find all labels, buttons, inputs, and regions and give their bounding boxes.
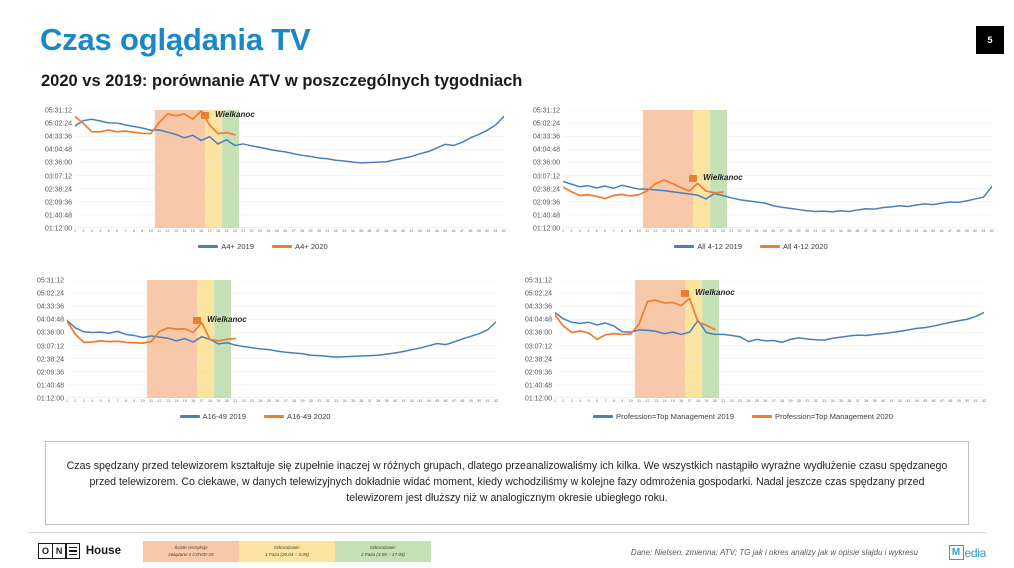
wielkanoc-marker-icon	[193, 317, 201, 324]
x-tick-label: 39	[881, 229, 885, 233]
x-tick-label: 12	[166, 229, 170, 233]
y-tick-label: 01:12:00	[45, 224, 72, 233]
x-tick-label: 42	[898, 399, 902, 403]
x-tick-label: 4	[579, 399, 581, 403]
x-tick-label: 31	[805, 399, 809, 403]
series-line	[563, 181, 992, 211]
x-tick-label: 7	[116, 399, 118, 403]
x-tick-label: 32	[822, 229, 826, 233]
media-logo-box: M	[949, 545, 964, 560]
legend-item[interactable]: All 4-12 2020	[760, 242, 828, 251]
x-tick-label: 11	[637, 399, 641, 403]
x-tick-label: 34	[839, 229, 843, 233]
y-tick-label: 03:36:00	[37, 328, 64, 337]
series-line	[67, 320, 496, 357]
x-tick-label: 46	[932, 399, 936, 403]
x-tick-label: 3	[579, 229, 581, 233]
legend-swatch-2020	[264, 415, 284, 417]
x-tick-label: 51	[974, 399, 978, 403]
x-tick-label: 26	[275, 399, 279, 403]
y-tick-label: 03:07:12	[45, 171, 72, 180]
x-tick-label: 41	[401, 399, 405, 403]
x-tick-label: 23	[258, 229, 262, 233]
legend-item[interactable]: Profession=Top Management 2019	[593, 412, 734, 421]
legend-item[interactable]: A16-49 2019	[180, 412, 247, 421]
x-tick-label: 21	[721, 399, 725, 403]
x-tick-label: 27	[772, 399, 776, 403]
x-tick-label: 1	[74, 229, 76, 233]
wielkanoc-annotation: Wielkanoc	[215, 110, 255, 119]
x-tick-label: 13	[654, 399, 658, 403]
phase-legend: Ścisłe restrykcje związane z COVID-19 Od…	[143, 541, 431, 562]
x-tick-label: 2	[570, 229, 572, 233]
y-tick-label: 05:02:24	[525, 289, 552, 298]
onehouse-letter-marks: O N	[38, 543, 79, 559]
x-tick-label: 43	[426, 229, 430, 233]
phase-band-thaw-phase-2	[710, 110, 727, 228]
x-tick-label: 19	[224, 229, 228, 233]
x-tick-label: 19	[704, 399, 708, 403]
x-tick-label: 25	[763, 229, 767, 233]
x-tick-label: 43	[906, 399, 910, 403]
x-tick-label: 15	[679, 229, 683, 233]
x-tick-label: 10	[141, 399, 145, 403]
x-axis-labels: 1234567891011121314151617181920212223242…	[563, 229, 992, 238]
x-tick-label: 2	[562, 399, 564, 403]
wielkanoc-marker-icon	[201, 112, 209, 119]
y-tick-label: 04:33:36	[533, 132, 560, 141]
x-tick-label: 5	[588, 399, 590, 403]
x-tick-label: 4	[91, 399, 93, 403]
phase-band-covid-restrictions	[643, 110, 693, 228]
x-tick-label: 6	[116, 229, 118, 233]
x-axis-labels: 1234567891011121314151617181920212223242…	[555, 399, 984, 408]
x-tick-label: 37	[864, 229, 868, 233]
y-tick-label: 01:40:48	[533, 210, 560, 219]
x-tick-label: 10	[149, 229, 153, 233]
x-tick-label: 48	[460, 399, 464, 403]
x-tick-label: 37	[368, 399, 372, 403]
x-tick-label: 22	[250, 229, 254, 233]
phase-line-1: Ścisłe restrykcje	[174, 545, 207, 552]
y-tick-label: 03:36:00	[45, 158, 72, 167]
x-tick-label: 9	[629, 229, 631, 233]
y-tick-label: 03:07:12	[533, 171, 560, 180]
x-tick-label: 7	[604, 399, 606, 403]
x-tick-label: 24	[258, 399, 262, 403]
x-axis-labels: 1234567891011121314151617181920212223242…	[67, 399, 496, 408]
x-tick-label: 6	[596, 399, 598, 403]
x-tick-label: 8	[621, 229, 623, 233]
x-tick-label: 8	[133, 229, 135, 233]
x-tick-label: 48	[468, 229, 472, 233]
phase-band-covid-restrictions	[155, 110, 205, 228]
legend-label: All 4-12 2019	[697, 242, 742, 251]
x-tick-label: 24	[266, 229, 270, 233]
phase-line-1: Odmrażanie:	[274, 545, 300, 552]
x-tick-label: 40	[401, 229, 405, 233]
x-tick-label: 33	[830, 229, 834, 233]
phase-band-thaw-phase-2	[222, 110, 239, 228]
wielkanoc-annotation: Wielkanoc	[703, 173, 743, 182]
legend-label: All 4-12 2020	[783, 242, 828, 251]
x-tick-label: 2	[82, 229, 84, 233]
legend-item[interactable]: All 4-12 2019	[674, 242, 742, 251]
legend-swatch-2020	[760, 245, 780, 247]
wielkanoc-annotation: Wielkanoc	[695, 288, 735, 297]
legend-label: Profession=Top Management 2020	[775, 412, 893, 421]
x-tick-label: 49	[965, 229, 969, 233]
x-tick-label: 9	[141, 229, 143, 233]
x-tick-label: 41	[897, 229, 901, 233]
x-tick-label: 7	[124, 229, 126, 233]
x-tick-label: 51	[486, 399, 490, 403]
x-tick-label: 10	[637, 229, 641, 233]
x-tick-label: 18	[208, 399, 212, 403]
x-tick-label: 1	[562, 229, 564, 233]
summary-box: Czas spędzany przed telewizorem kształtu…	[45, 441, 969, 525]
x-tick-label: 15	[191, 229, 195, 233]
x-tick-label: 23	[738, 399, 742, 403]
x-tick-label: 46	[940, 229, 944, 233]
x-tick-label: 42	[410, 399, 414, 403]
x-tick-label: 8	[613, 399, 615, 403]
x-tick-label: 45	[923, 399, 927, 403]
legend-swatch-2020	[272, 245, 292, 247]
x-tick-label: 5	[596, 229, 598, 233]
x-tick-label: 49	[469, 399, 473, 403]
x-tick-label: 39	[873, 399, 877, 403]
x-tick-label: 20	[225, 399, 229, 403]
x-tick-label: 44	[915, 399, 919, 403]
x-tick-label: 21	[241, 229, 245, 233]
y-tick-label: 02:09:36	[525, 367, 552, 376]
chart-legend: Profession=Top Management 2019 Professio…	[498, 412, 988, 421]
x-tick-label: 43	[418, 399, 422, 403]
x-tick-label: 5	[108, 229, 110, 233]
x-tick-label: 17	[696, 229, 700, 233]
x-tick-label: 26	[283, 229, 287, 233]
x-tick-label: 51	[494, 229, 498, 233]
x-tick-label: 29	[789, 399, 793, 403]
phase-band-thaw-phase-1	[693, 110, 710, 228]
plot-region	[67, 280, 496, 398]
x-tick-label: 44	[435, 229, 439, 233]
x-tick-label: 12	[646, 399, 650, 403]
legend-swatch-2019	[198, 245, 218, 247]
y-tick-label: 05:31:12	[37, 276, 64, 285]
x-tick-label: 41	[889, 399, 893, 403]
x-tick-label: 42	[906, 229, 910, 233]
x-tick-label: 46	[452, 229, 456, 233]
x-tick-label: 4	[587, 229, 589, 233]
x-tick-label: 30	[309, 399, 313, 403]
y-tick-label: 05:31:12	[525, 276, 552, 285]
y-tick-label: 03:07:12	[37, 341, 64, 350]
legend-item[interactable]: Profession=Top Management 2020	[752, 412, 893, 421]
chart-legend: A16-49 2019 A16-49 2020	[10, 412, 500, 421]
x-tick-label: 11	[157, 229, 161, 233]
x-tick-label: 14	[670, 229, 674, 233]
x-tick-label: 30	[805, 229, 809, 233]
phase-line-2: 1 Faza (20.04 – 3.05)	[265, 552, 309, 559]
x-tick-label: 22	[242, 399, 246, 403]
x-tick-label: 31	[813, 229, 817, 233]
x-tick-label: 29	[301, 399, 305, 403]
summary-text: Czas spędzany przed telewizorem kształtu…	[46, 459, 968, 506]
slide: Czas oglądania TV 2020 vs 2019: porównan…	[0, 0, 1014, 568]
x-tick-label: 14	[182, 229, 186, 233]
x-tick-label: 42	[418, 229, 422, 233]
x-tick-label: 6	[604, 229, 606, 233]
x-tick-label: 16	[687, 229, 691, 233]
x-tick-label: 23	[250, 399, 254, 403]
x-tick-label: 8	[125, 399, 127, 403]
x-tick-label: 47	[452, 399, 456, 403]
chart-panel-a4plus: 05:31:1205:02:2404:33:3604:04:4803:36:00…	[18, 110, 508, 273]
x-tick-label: 50	[477, 399, 481, 403]
x-tick-label: 35	[359, 229, 363, 233]
x-tick-label: 28	[292, 399, 296, 403]
x-tick-label: 28	[300, 229, 304, 233]
x-tick-label: 29	[797, 229, 801, 233]
x-tick-label: 49	[957, 399, 961, 403]
x-tick-label: 16	[679, 399, 683, 403]
y-tick-label: 05:31:12	[45, 106, 72, 115]
y-tick-label: 05:02:24	[37, 289, 64, 298]
x-tick-label: 25	[755, 399, 759, 403]
x-tick-label: 9	[133, 399, 135, 403]
x-tick-label: 25	[275, 229, 279, 233]
x-tick-label: 9	[621, 399, 623, 403]
x-tick-label: 15	[183, 399, 187, 403]
x-tick-label: 25	[267, 399, 271, 403]
y-axis-labels: 05:31:1205:02:2404:33:3604:04:4803:36:00…	[498, 280, 554, 398]
x-axis-labels: 1234567891011121314151617181920212223242…	[75, 229, 504, 238]
x-tick-label: 38	[384, 229, 388, 233]
plot-region	[555, 280, 984, 398]
x-tick-label: 33	[342, 229, 346, 233]
legend-label: A4+ 2019	[221, 242, 254, 251]
x-tick-label: 19	[216, 399, 220, 403]
legend-label: Profession=Top Management 2019	[616, 412, 734, 421]
x-tick-label: 14	[662, 399, 666, 403]
x-tick-label: 18	[704, 229, 708, 233]
charts-grid: 05:31:1205:02:2404:33:3604:04:4803:36:00…	[0, 110, 1014, 435]
y-tick-label: 02:38:24	[37, 354, 64, 363]
chart-legend: A4+ 2019 A4+ 2020	[18, 242, 508, 251]
x-tick-label: 16	[199, 229, 203, 233]
y-tick-label: 02:09:36	[533, 197, 560, 206]
y-tick-label: 04:33:36	[525, 302, 552, 311]
y-tick-label: 01:12:00	[525, 394, 552, 403]
phase-band-thaw-phase-2	[702, 280, 719, 398]
x-tick-label: 13	[174, 229, 178, 233]
legend-swatch-2019	[180, 415, 200, 417]
x-tick-label: 40	[889, 229, 893, 233]
legend-swatch-2019	[674, 245, 694, 247]
x-tick-label: 20	[713, 399, 717, 403]
x-tick-label: 27	[284, 399, 288, 403]
x-tick-label: 48	[948, 399, 952, 403]
x-tick-label: 34	[351, 229, 355, 233]
y-tick-label: 04:04:48	[533, 145, 560, 154]
x-tick-label: 31	[317, 399, 321, 403]
x-tick-label: 3	[571, 399, 573, 403]
x-tick-label: 44	[427, 399, 431, 403]
series-line	[75, 116, 504, 163]
wielkanoc-marker-icon	[689, 175, 697, 182]
x-tick-label: 37	[376, 229, 380, 233]
x-tick-label: 16	[191, 399, 195, 403]
x-tick-label: 41	[409, 229, 413, 233]
chart-area: 05:31:1205:02:2404:33:3604:04:4803:36:00…	[10, 280, 500, 408]
x-tick-label: 52	[982, 399, 986, 403]
x-tick-label: 47	[940, 399, 944, 403]
x-tick-label: 19	[712, 229, 716, 233]
chart-panel-top-management: 05:31:1205:02:2404:33:3604:04:4803:36:00…	[498, 280, 988, 443]
chart-panel-all-4-12: 05:31:1205:02:2404:33:3604:04:4803:36:00…	[506, 110, 996, 273]
x-tick-label: 23	[746, 229, 750, 233]
chart-area: 05:31:1205:02:2404:33:3604:04:4803:36:00…	[498, 280, 988, 408]
x-tick-label: 35	[839, 399, 843, 403]
y-tick-label: 03:36:00	[533, 158, 560, 167]
phase-band-thaw-phase-1	[205, 110, 222, 228]
x-tick-label: 6	[108, 399, 110, 403]
plot-region	[563, 110, 992, 228]
x-tick-label: 33	[822, 399, 826, 403]
x-tick-label: 14	[174, 399, 178, 403]
x-tick-label: 49	[477, 229, 481, 233]
y-tick-label: 02:38:24	[525, 354, 552, 363]
y-tick-label: 01:40:48	[45, 210, 72, 219]
x-tick-label: 50	[965, 399, 969, 403]
y-tick-label: 02:38:24	[45, 184, 72, 193]
source-note: Dane: Nielsen, zmienna: ATV; TG jak i ok…	[631, 548, 918, 557]
x-tick-label: 48	[956, 229, 960, 233]
hamburger-bars	[69, 547, 77, 555]
y-tick-label: 05:31:12	[533, 106, 560, 115]
y-tick-label: 01:40:48	[525, 380, 552, 389]
x-tick-label: 3	[83, 399, 85, 403]
legend-label: A4+ 2020	[295, 242, 328, 251]
legend-item[interactable]: A4+ 2020	[272, 242, 328, 251]
onehouse-logo: O N House	[38, 543, 121, 559]
page-number-badge: 5	[976, 26, 1004, 54]
y-tick-label: 01:40:48	[37, 380, 64, 389]
y-tick-label: 04:04:48	[525, 315, 552, 324]
x-tick-label: 43	[914, 229, 918, 233]
x-tick-label: 39	[385, 399, 389, 403]
y-tick-label: 01:12:00	[533, 224, 560, 233]
x-tick-label: 27	[292, 229, 296, 233]
x-tick-label: 32	[814, 399, 818, 403]
y-tick-label: 02:09:36	[45, 197, 72, 206]
x-tick-label: 36	[359, 399, 363, 403]
legend-swatch-2019	[593, 415, 613, 417]
x-tick-label: 22	[738, 229, 742, 233]
x-tick-label: 50	[485, 229, 489, 233]
phase-line-2: związane z COVID-19	[168, 552, 213, 559]
chart-panel-a16-49: 05:31:1205:02:2404:33:3604:04:4803:36:00…	[10, 280, 500, 443]
x-tick-label: 12	[158, 399, 162, 403]
x-tick-label: 18	[216, 229, 220, 233]
x-tick-label: 30	[317, 229, 321, 233]
x-tick-label: 36	[847, 399, 851, 403]
x-tick-label: 3	[91, 229, 93, 233]
phase-band-thaw-phase-1	[685, 280, 702, 398]
logo-word-house: House	[86, 545, 121, 557]
x-tick-label: 37	[856, 399, 860, 403]
x-tick-label: 32	[334, 229, 338, 233]
y-tick-label: 02:09:36	[37, 367, 64, 376]
x-tick-label: 35	[847, 229, 851, 233]
x-tick-label: 40	[881, 399, 885, 403]
page-title: Czas oglądania TV	[40, 22, 311, 58]
legend-item[interactable]: A16-49 2020	[264, 412, 331, 421]
media-logo-text: edia	[965, 546, 987, 560]
x-tick-label: 17	[200, 399, 204, 403]
x-tick-label: 52	[990, 229, 994, 233]
x-tick-label: 21	[729, 229, 733, 233]
x-tick-label: 20	[233, 229, 237, 233]
x-tick-label: 35	[351, 399, 355, 403]
x-tick-label: 32	[326, 399, 330, 403]
x-tick-label: 21	[233, 399, 237, 403]
x-tick-label: 28	[780, 399, 784, 403]
page-subtitle: 2020 vs 2019: porównanie ATV w poszczegó…	[41, 72, 522, 91]
x-tick-label: 29	[309, 229, 313, 233]
series-line	[555, 312, 984, 342]
legend-label: A16-49 2019	[203, 412, 247, 421]
legend-label: A16-49 2020	[287, 412, 331, 421]
x-tick-label: 24	[746, 399, 750, 403]
chart-legend: All 4-12 2019 All 4-12 2020	[506, 242, 996, 251]
x-tick-label: 11	[645, 229, 649, 233]
x-tick-label: 51	[982, 229, 986, 233]
plot-region	[75, 110, 504, 228]
y-axis-labels: 05:31:1205:02:2404:33:3604:04:4803:36:00…	[506, 110, 562, 228]
x-tick-label: 47	[948, 229, 952, 233]
x-tick-label: 12	[654, 229, 658, 233]
x-tick-label: 11	[149, 399, 153, 403]
x-tick-label: 34	[343, 399, 347, 403]
x-tick-label: 22	[730, 399, 734, 403]
chart-area: 05:31:1205:02:2404:33:3604:04:4803:36:00…	[18, 110, 508, 238]
x-tick-label: 17	[688, 399, 692, 403]
y-tick-label: 01:12:00	[37, 394, 64, 403]
x-tick-label: 44	[923, 229, 927, 233]
x-tick-label: 47	[460, 229, 464, 233]
x-tick-label: 27	[780, 229, 784, 233]
x-tick-label: 30	[797, 399, 801, 403]
x-tick-label: 50	[973, 229, 977, 233]
hamburger-icon	[65, 543, 80, 559]
x-tick-label: 45	[931, 229, 935, 233]
x-tick-label: 26	[763, 399, 767, 403]
x-tick-label: 39	[393, 229, 397, 233]
x-tick-label: 1	[554, 399, 556, 403]
phase-legend-thaw-2: Odmrażanie: 2 Faza (4.05 – 17.05)	[335, 541, 431, 562]
footer-divider	[28, 532, 986, 533]
phase-legend-covid: Ścisłe restrykcje związane z COVID-19	[143, 541, 239, 562]
x-tick-label: 17	[208, 229, 212, 233]
legend-item[interactable]: A4+ 2019	[198, 242, 254, 251]
y-tick-label: 05:02:24	[45, 119, 72, 128]
x-tick-label: 5	[100, 399, 102, 403]
y-tick-label: 03:36:00	[525, 328, 552, 337]
x-tick-label: 36	[855, 229, 859, 233]
